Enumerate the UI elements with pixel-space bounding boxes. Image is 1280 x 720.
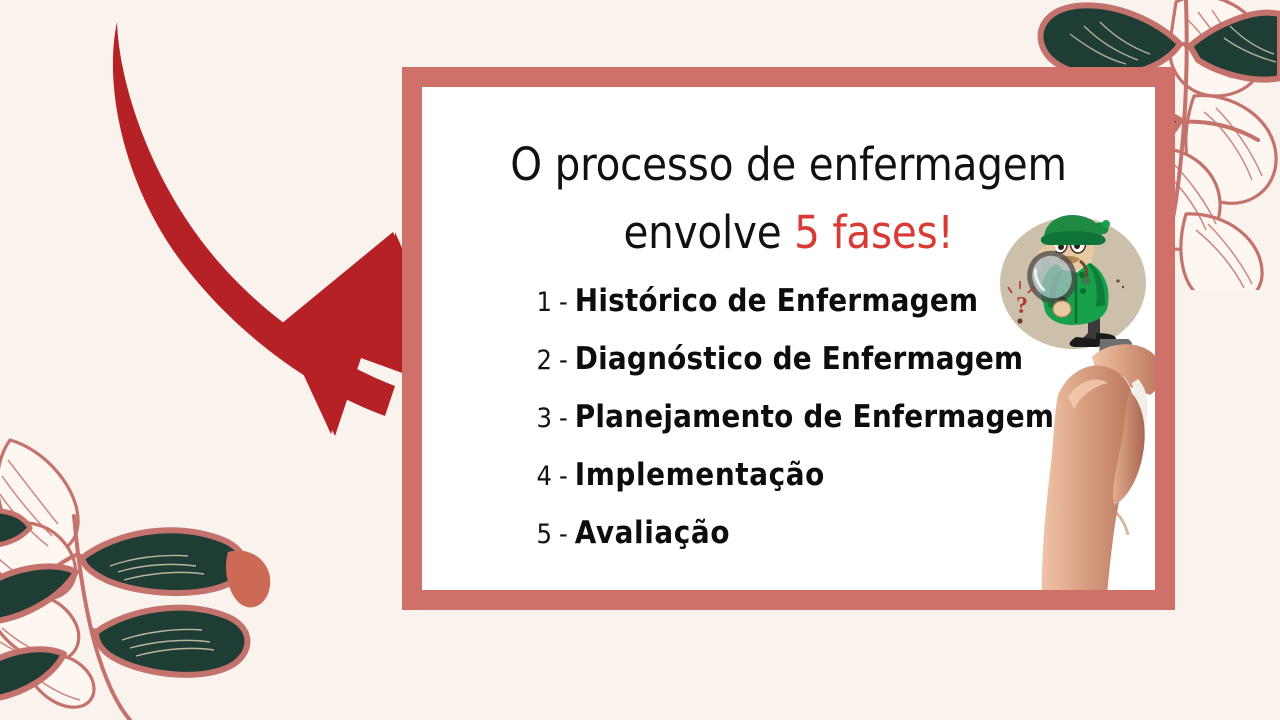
phase-number: 3 (530, 403, 552, 434)
decoration-bottom-left (0, 420, 300, 720)
hand-with-marker (1034, 339, 1155, 590)
phase-label: Diagnóstico de Enfermagem (575, 341, 1024, 377)
phase-label: Avaliação (575, 515, 730, 551)
list-item: 2 - Diagnóstico de Enfermagem (530, 341, 1054, 399)
list-item: 4 - Implementação (530, 457, 1054, 515)
phase-separator: - (552, 287, 575, 318)
whiteboard-surface: O processo de enfermagem envolve 5 fases… (422, 87, 1155, 590)
list-item: 5 - Avaliação (530, 515, 1054, 573)
phase-list: 1 - Histórico de Enfermagem 2 - Diagnóst… (530, 283, 1054, 573)
phase-number: 2 (530, 345, 552, 376)
phase-number: 1 (530, 287, 552, 318)
botanical-leaves-decoration (0, 440, 270, 720)
svg-text:?: ? (1016, 293, 1028, 319)
phase-separator: - (552, 519, 575, 550)
headline-accent: 5 fases! (794, 206, 953, 259)
phase-separator: - (552, 345, 575, 376)
whiteboard-frame: O processo de enfermagem envolve 5 fases… (402, 67, 1175, 610)
list-item: 1 - Histórico de Enfermagem (530, 283, 1054, 341)
detective-illustration: ? (996, 215, 1150, 355)
phase-label: Histórico de Enfermagem (575, 283, 978, 319)
phase-separator: - (552, 461, 575, 492)
hand-holding-marker-illustration (1041, 339, 1155, 590)
headline-line-1: O processo de enfermagem (422, 131, 1155, 199)
slide-canvas: O processo de enfermagem envolve 5 fases… (0, 0, 1280, 720)
phase-label: Implementação (575, 457, 825, 493)
phase-number: 4 (530, 461, 552, 492)
list-item: 3 - Planejamento de Enfermagem (530, 399, 1054, 457)
headline-line-2-prefix: envolve (623, 206, 794, 259)
phase-label: Planejamento de Enfermagem (575, 399, 1054, 435)
detective-with-magnifying-glass-icon: ? (1000, 215, 1146, 349)
phase-number: 5 (530, 519, 552, 550)
phase-separator: - (552, 403, 575, 434)
